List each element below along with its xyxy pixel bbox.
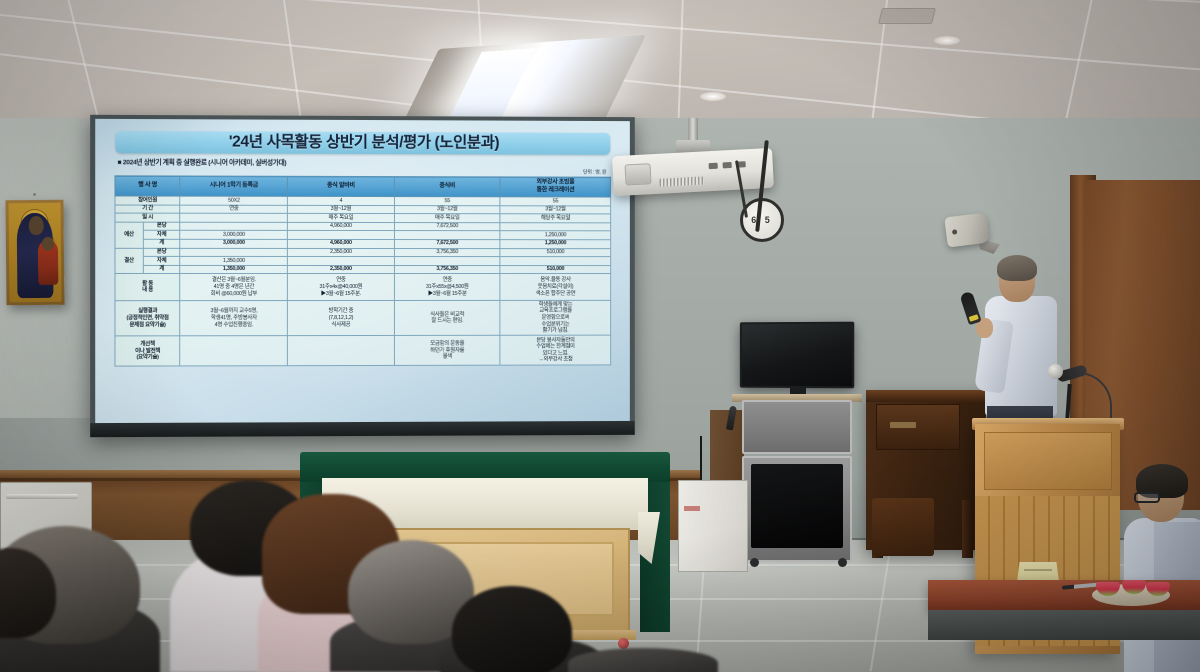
cell (394, 257, 500, 266)
presentation-room-scene: '24년 사목활동 상반기 분석/평가 (노인분과) ■ 2024년 상반기 계… (0, 0, 1200, 672)
cell: 3월~12월 (500, 205, 610, 214)
cell: 55 (394, 197, 500, 206)
audience-member-head (452, 586, 572, 672)
row-sub-label: 자체 (143, 257, 180, 266)
seated-man (1128, 470, 1200, 672)
table-row-result: 실행결과 (긍정적인면, 취약점 문제점 요약기술) 3월~6월까지 교수5명,… (115, 301, 611, 337)
audience-member (568, 648, 718, 672)
cell: 4,960,000 (287, 239, 394, 248)
cell: 510,000 (500, 248, 610, 257)
table-row: 결산 본당 2,350,000 3,756,350 510,000 (115, 248, 611, 257)
cell: 음악.율동 강사 웃음치료(각설이) 색소폰 합주단 공연 (500, 274, 610, 301)
slide-subtitle: ■ 2024년 상반기 계획 중 실행완료 (시니어 아카데미, 실버성가대) (118, 157, 622, 169)
cell: 4 (287, 196, 394, 205)
cell: 2,350,000 (287, 265, 394, 274)
ceiling-vent (878, 8, 936, 24)
cell: 1,250,000 (500, 231, 610, 240)
projector-vent (659, 176, 703, 186)
refrigerator-handle[interactable] (6, 494, 78, 499)
cell: 1,250,000 (500, 240, 610, 249)
cell: 3월~6월까지 교수5명, 학생41명, 주방봉사자 4명 수업진행중임. (180, 301, 287, 336)
table-row-activity: 활 동 내 용 결산은 3월~6월분임. 41명 중 4명은 년간 회비 @60… (115, 274, 611, 301)
child-face (42, 237, 54, 251)
cell: 3,000,000 (180, 239, 287, 248)
downlight-icon (700, 92, 726, 101)
rack-caster (838, 558, 847, 567)
col-header-recreation: 외부강사 초빙을 통한 레크레이션 (500, 177, 610, 197)
col-header-event: 행 사 명 (115, 176, 180, 196)
drop-ceiling (0, 0, 1200, 132)
row-sub-label: 계 (143, 239, 180, 248)
cell: 식사들은 비교적 잘 드시는 편임. (394, 301, 500, 336)
cell (500, 222, 610, 231)
piano-logo (890, 422, 916, 428)
wall-pa-speaker (944, 213, 989, 248)
presenter-hair (997, 255, 1037, 281)
rack-caster (750, 558, 759, 567)
refrigerator (678, 480, 748, 572)
col-header-lunch-cost: 중식비 (394, 177, 500, 197)
table-header-row: 행 사 명 시니어 1학기 등록금 중식 알바비 중식비 외부강사 초빙을 통한… (115, 176, 611, 197)
projection-screen[interactable]: '24년 사목활동 상반기 분석/평가 (노인분과) ■ 2024년 상반기 계… (90, 115, 635, 437)
row-sub-label: 계 (143, 265, 180, 274)
cell: 3월~12월 (287, 205, 394, 214)
table-row: 자체 1,350,000 (115, 257, 611, 266)
row-label: 활 동 내 용 (115, 274, 180, 301)
analysis-table: 행 사 명 시니어 1학기 등록금 중식 알바비 중식비 외부강사 초빙을 통한… (114, 176, 611, 367)
cell: 해당주 목요일 (500, 214, 610, 223)
piano-lid (866, 390, 986, 402)
presenter-person (985, 258, 1057, 433)
row-sub-label: 본당 (143, 248, 180, 257)
podium-front-panel (984, 432, 1112, 490)
av-rack-upper: MIXER (742, 400, 852, 454)
cell: 본당 봉사자들만의 수업에는 한계점이 있다고 느낌. →외부강사 초청 (500, 335, 610, 365)
row-sub-label: 자체 (143, 231, 180, 240)
picture-nail (33, 193, 36, 196)
cell (287, 336, 394, 366)
ceiling-projector (612, 148, 774, 196)
cell: 50X2 (180, 196, 287, 205)
cell: 7,672,500 (394, 239, 500, 248)
piano-bench (872, 498, 934, 556)
screen-bottom-bar (90, 421, 635, 437)
row-label: 일 시 (115, 213, 180, 222)
cell: 3,000,000 (180, 231, 287, 240)
cell: 방학기간 중 (7,8,12,1,2) 식사제공 (287, 301, 394, 336)
cell: 3월~12월 (394, 205, 500, 214)
right-table-apron (928, 610, 1200, 640)
cell: 연중 31주x55x@4,500원 ▶3월~6월 15주분 (394, 274, 500, 301)
cell: 연중 (180, 205, 287, 214)
refrigerator-label (684, 506, 700, 511)
col-header-lunch-labor: 중식 알바비 (287, 177, 394, 197)
eyeglasses-icon (1134, 492, 1160, 503)
cell: 매주 목요일 (394, 214, 500, 223)
cell (180, 248, 287, 257)
piano-front-panel (876, 404, 960, 450)
cell (394, 231, 500, 240)
table-row: 계 1,350,000 2,350,000 3,756,350 510,000 (115, 265, 611, 274)
row-label: 실행결과 (긍정적인면, 취약점 문제점 요약기술) (115, 301, 180, 336)
cell: 학생들에게 맞는 교육프로그램을 운영함으로써 수업분위기는 활기가 넘침. (500, 301, 610, 336)
projector-lens-icon (625, 163, 652, 185)
col-header-tuition: 시니어 1학기 등록금 (180, 176, 287, 196)
cell (500, 257, 610, 266)
cell: 3,756,350 (394, 248, 500, 257)
table-row: 계 3,000,000 4,960,000 7,672,500 1,250,00… (115, 239, 611, 248)
row-group-settlement: 결산 (115, 248, 143, 274)
cell (287, 257, 394, 266)
row-sub-label: 본당 (143, 222, 180, 231)
slide-title-banner: '24년 사목활동 상반기 분석/평가 (노인분과) (115, 131, 610, 155)
cell (287, 231, 394, 240)
row-label: 참여인원 (115, 196, 180, 205)
downlight-icon (934, 36, 960, 45)
cell: 결산은 3월~6월분임. 41명 중 4명은 년간 회비 @60,000원 납부 (180, 274, 287, 301)
slide-content: '24년 사목활동 상반기 분석/평가 (노인분과) ■ 2024년 상반기 계… (95, 119, 630, 423)
cell (180, 213, 287, 222)
unit-note: 단위 : 명, 원 (103, 168, 606, 176)
madonna-and-child-icon (5, 200, 64, 306)
piano-leg (962, 500, 973, 558)
cell (180, 336, 287, 366)
row-label: 기 간 (115, 205, 180, 214)
madonna-face (29, 216, 44, 235)
cell: 연중 31주x4x@40,000원 ▶3월~6월 15주분. (287, 274, 394, 301)
cell: 1,350,000 (180, 265, 287, 274)
cell: 매주 목요일 (287, 214, 394, 223)
cell: 7,672,500 (394, 222, 500, 231)
cell: 3,756,350 (394, 265, 500, 274)
cell: 모금함의 운동을 하던가 후원자를 물색 (394, 336, 500, 366)
microphone-windscreen (1048, 364, 1063, 379)
flat-panel-tv[interactable] (740, 322, 854, 389)
cell: 2,350,000 (287, 248, 394, 257)
page-title: '24년 사목활동 상반기 분석/평가 (노인분과) (115, 131, 610, 155)
cell: 510,000 (500, 265, 610, 274)
cell: 1,350,000 (180, 257, 287, 266)
cell (180, 222, 287, 231)
cell: 55 (500, 197, 610, 206)
table-row-improvement: 개선책 이나 발전책 (요약기술) 모금함의 운동을 하던가 후원자를 물색 본… (115, 335, 611, 366)
row-label: 개선책 이나 발전책 (요약기술) (115, 336, 180, 366)
row-group-budget: 예산 (115, 222, 143, 248)
cell: 4,960,000 (287, 222, 394, 231)
av-rack-lower (742, 456, 852, 562)
rack-speaker-grille (751, 464, 843, 548)
